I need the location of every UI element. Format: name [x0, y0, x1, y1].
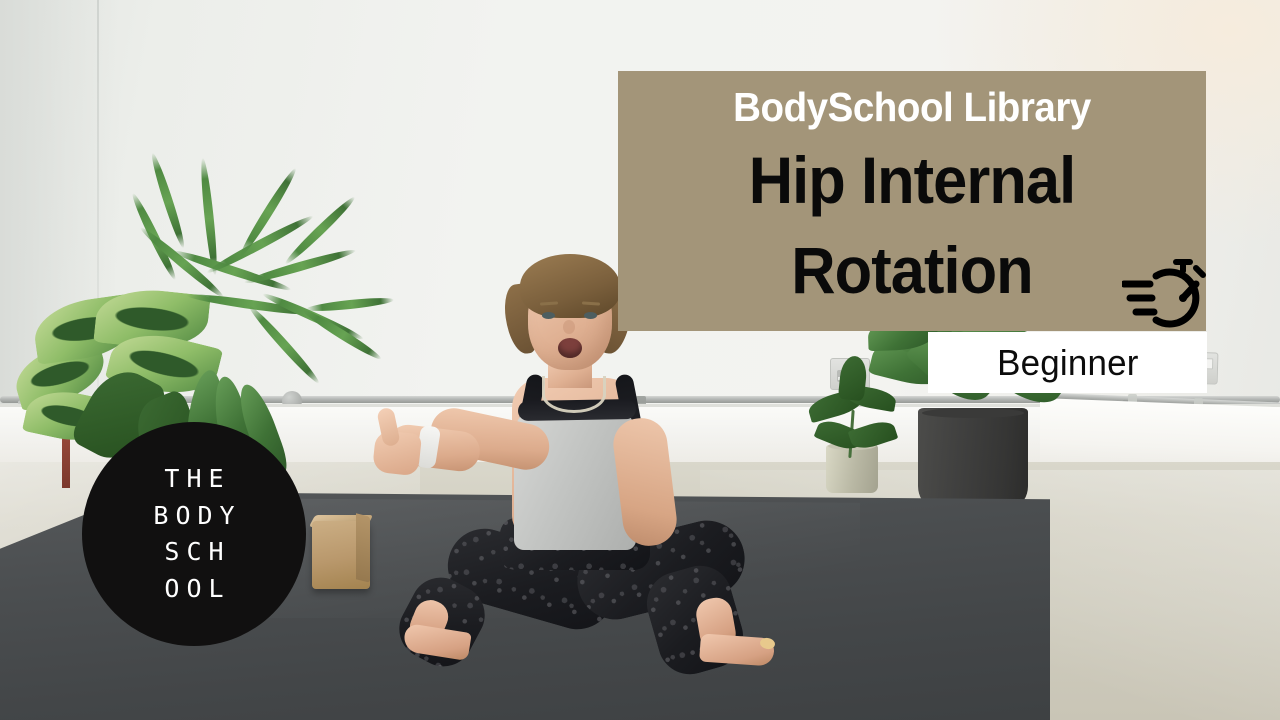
brand-logo-badge[interactable]: THE BODY SCH OOL — [82, 422, 306, 646]
level-badge: Beginner — [928, 332, 1207, 393]
level-badge-label: Beginner — [997, 342, 1138, 384]
brand-line: BodySchool Library — [636, 87, 1189, 128]
logo-line-1: THE — [157, 461, 230, 498]
exercise-title-line-1: Hip Internal — [639, 147, 1186, 213]
stopwatch-icon — [1122, 258, 1208, 332]
mouth — [558, 338, 582, 358]
hair — [520, 254, 620, 318]
title-card: BodySchool Library Hip Internal Rotation — [618, 71, 1206, 331]
video-frame: THE BODY SCH OOL BodySchool Library Hip … — [0, 0, 1280, 720]
necklace — [542, 376, 606, 413]
nose — [563, 320, 575, 334]
logo-line-3: SCH — [157, 534, 230, 571]
eye-left — [542, 312, 555, 319]
exercise-title-line-2: Rotation — [639, 237, 1186, 303]
eye-right — [584, 312, 597, 319]
logo-line-4: OOL — [157, 571, 230, 608]
logo-line-2: BODY — [146, 498, 241, 535]
